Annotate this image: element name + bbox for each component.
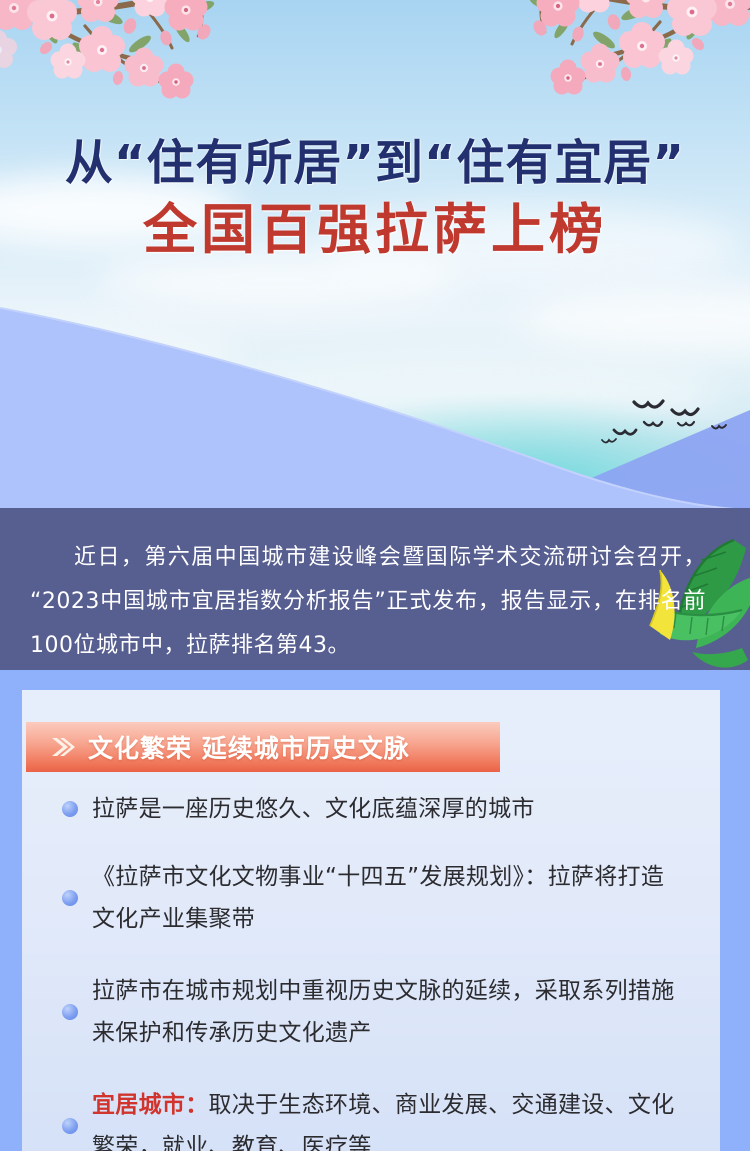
bullet-dot-icon <box>62 890 78 906</box>
section-header-label: 文化繁荣 延续城市历史文脉 <box>88 729 410 765</box>
birds-flock-icon <box>600 390 740 470</box>
list-item-highlight: 宜居城市： <box>92 1092 209 1118</box>
double-chevron-right-icon <box>50 735 76 759</box>
bullet-dot-icon <box>62 1118 78 1134</box>
mountain-silhouette-icon <box>0 250 750 510</box>
section-bullet-list: 拉萨是一座历史悠久、文化底蕴深厚的城市 《拉萨市文化文物事业“十四五”发展规划》… <box>22 788 720 1151</box>
infographic-page: 从“住有所居”到“住有宜居” 全国百强拉萨上榜 <box>0 0 750 1151</box>
hero-section: 从“住有所居”到“住有宜居” 全国百强拉萨上榜 <box>0 0 750 510</box>
hero-title-block: 从“住有所居”到“住有宜居” 全国百强拉萨上榜 <box>0 132 750 266</box>
list-item: 拉萨市在城市规划中重视历史文脉的延续，采取系列措施来保护和传承历史文化遗产 <box>22 970 720 1054</box>
list-item: 《拉萨市文化文物事业“十四五”发展规划》：拉萨将打造文化产业集聚带 <box>22 856 720 940</box>
list-item-text: 拉萨是一座历史悠久、文化底蕴深厚的城市 <box>92 788 535 830</box>
list-item: 宜居城市：取决于生态环境、商业发展、交通建设、文化繁荣，就业、教育、医疗等 <box>22 1084 720 1151</box>
list-item-text: 宜居城市：取决于生态环境、商业发展、交通建设、文化繁荣，就业、教育、医疗等 <box>92 1084 677 1151</box>
list-item-text: 拉萨市在城市规划中重视历史文脉的延续，采取系列措施来保护和传承历史文化遗产 <box>92 970 677 1054</box>
bullet-dot-icon <box>62 1004 78 1020</box>
intro-paragraph: 近日，第六届中国城市建设峰会暨国际学术交流研讨会召开，“2023中国城市宜居指数… <box>0 508 750 668</box>
page-title-secondary: 全国百强拉萨上榜 <box>0 194 750 266</box>
cherry-blossom-branch-left-icon <box>0 0 320 136</box>
section-header-banner[interactable]: 文化繁荣 延续城市历史文脉 <box>26 722 500 772</box>
cherry-blossom-branch-right-icon <box>430 0 750 134</box>
list-item-text: 《拉萨市文化文物事业“十四五”发展规划》：拉萨将打造文化产业集聚带 <box>92 856 677 940</box>
intro-band: 近日，第六届中国城市建设峰会暨国际学术交流研讨会召开，“2023中国城市宜居指数… <box>0 508 750 670</box>
list-item: 拉萨是一座历史悠久、文化底蕴深厚的城市 <box>22 788 720 830</box>
bullet-dot-icon <box>62 801 78 817</box>
page-title-primary: 从“住有所居”到“住有宜居” <box>0 132 750 194</box>
